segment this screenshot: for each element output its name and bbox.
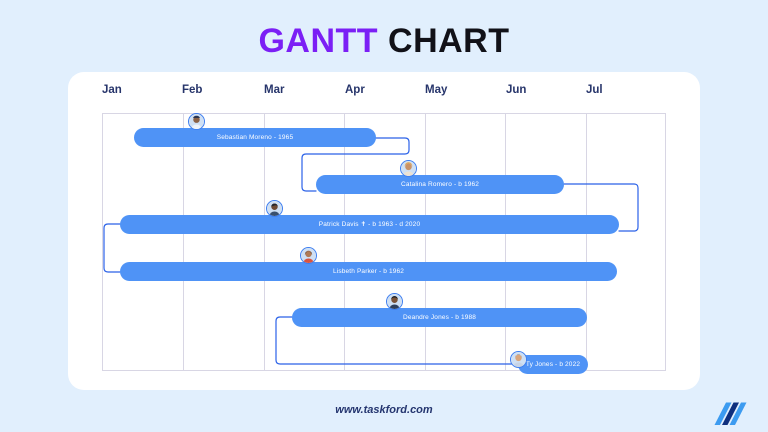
month-label-mar: Mar [264,84,284,96]
task-label: Lisbeth Parker - b 1962 [120,262,617,281]
gridline-apr [344,114,345,370]
avatar-lisbeth-parker[interactable] [300,247,317,264]
avatar-image [387,294,402,309]
avatar-image [267,201,282,216]
month-label-jul: Jul [586,84,603,96]
gridline-mar [264,114,265,370]
month-label-jun: Jun [506,84,526,96]
avatar-image [511,352,526,367]
page-title-plain: CHART [378,22,509,60]
task-label: Sebastian Moreno - 1965 [134,128,376,147]
avatar-patrick-davis[interactable] [266,200,283,217]
task-bar-deandre-jones[interactable]: Deandre Jones - b 1988 [292,308,587,327]
month-label-may: May [425,84,447,96]
avatar-ty-jones[interactable] [510,351,527,368]
task-bar-catalina-romero[interactable]: Catalina Romero - b 1962 [316,175,564,194]
month-label-apr: Apr [345,84,365,96]
footer-url[interactable]: www.taskford.com [0,404,768,416]
timeline-header: Jan Feb Mar Apr May Jun Jul [68,72,700,112]
avatar-sebastian-moreno[interactable] [188,113,205,130]
avatar-deandre-jones[interactable] [386,293,403,310]
avatar-catalina-romero[interactable] [400,160,417,177]
avatar-image [189,114,204,129]
task-label: Deandre Jones - b 1988 [292,308,587,327]
task-bar-sebastian-moreno[interactable]: Sebastian Moreno - 1965 [134,128,376,147]
timeline-grid [102,113,666,371]
avatar-image [301,248,316,263]
task-bar-lisbeth-parker[interactable]: Lisbeth Parker - b 1962 [120,262,617,281]
task-bar-ty-jones[interactable]: Ty Jones - b 2022 [518,355,588,374]
taskford-logo [704,398,750,428]
task-bar-patrick-davis[interactable]: Patrick Davis ✝ - b 1963 - d 2020 [120,215,619,234]
gridline-feb [183,114,184,370]
task-label: Catalina Romero - b 1962 [316,175,564,194]
task-label: Ty Jones - b 2022 [518,355,588,374]
page-title-accent: GANTT [258,22,378,60]
gridline-jun [505,114,506,370]
gridline-may [425,114,426,370]
gantt-chart-slide: GANTT CHART Jan Feb Mar Apr May Jun Jul [0,0,768,432]
avatar-image [401,161,416,176]
gridline-jul [586,114,587,370]
gantt-card: Jan Feb Mar Apr May Jun Jul [68,72,700,390]
month-label-jan: Jan [102,84,122,96]
page-title: GANTT CHART [0,20,768,62]
month-label-feb: Feb [182,84,202,96]
task-label: Patrick Davis ✝ - b 1963 - d 2020 [120,215,619,234]
